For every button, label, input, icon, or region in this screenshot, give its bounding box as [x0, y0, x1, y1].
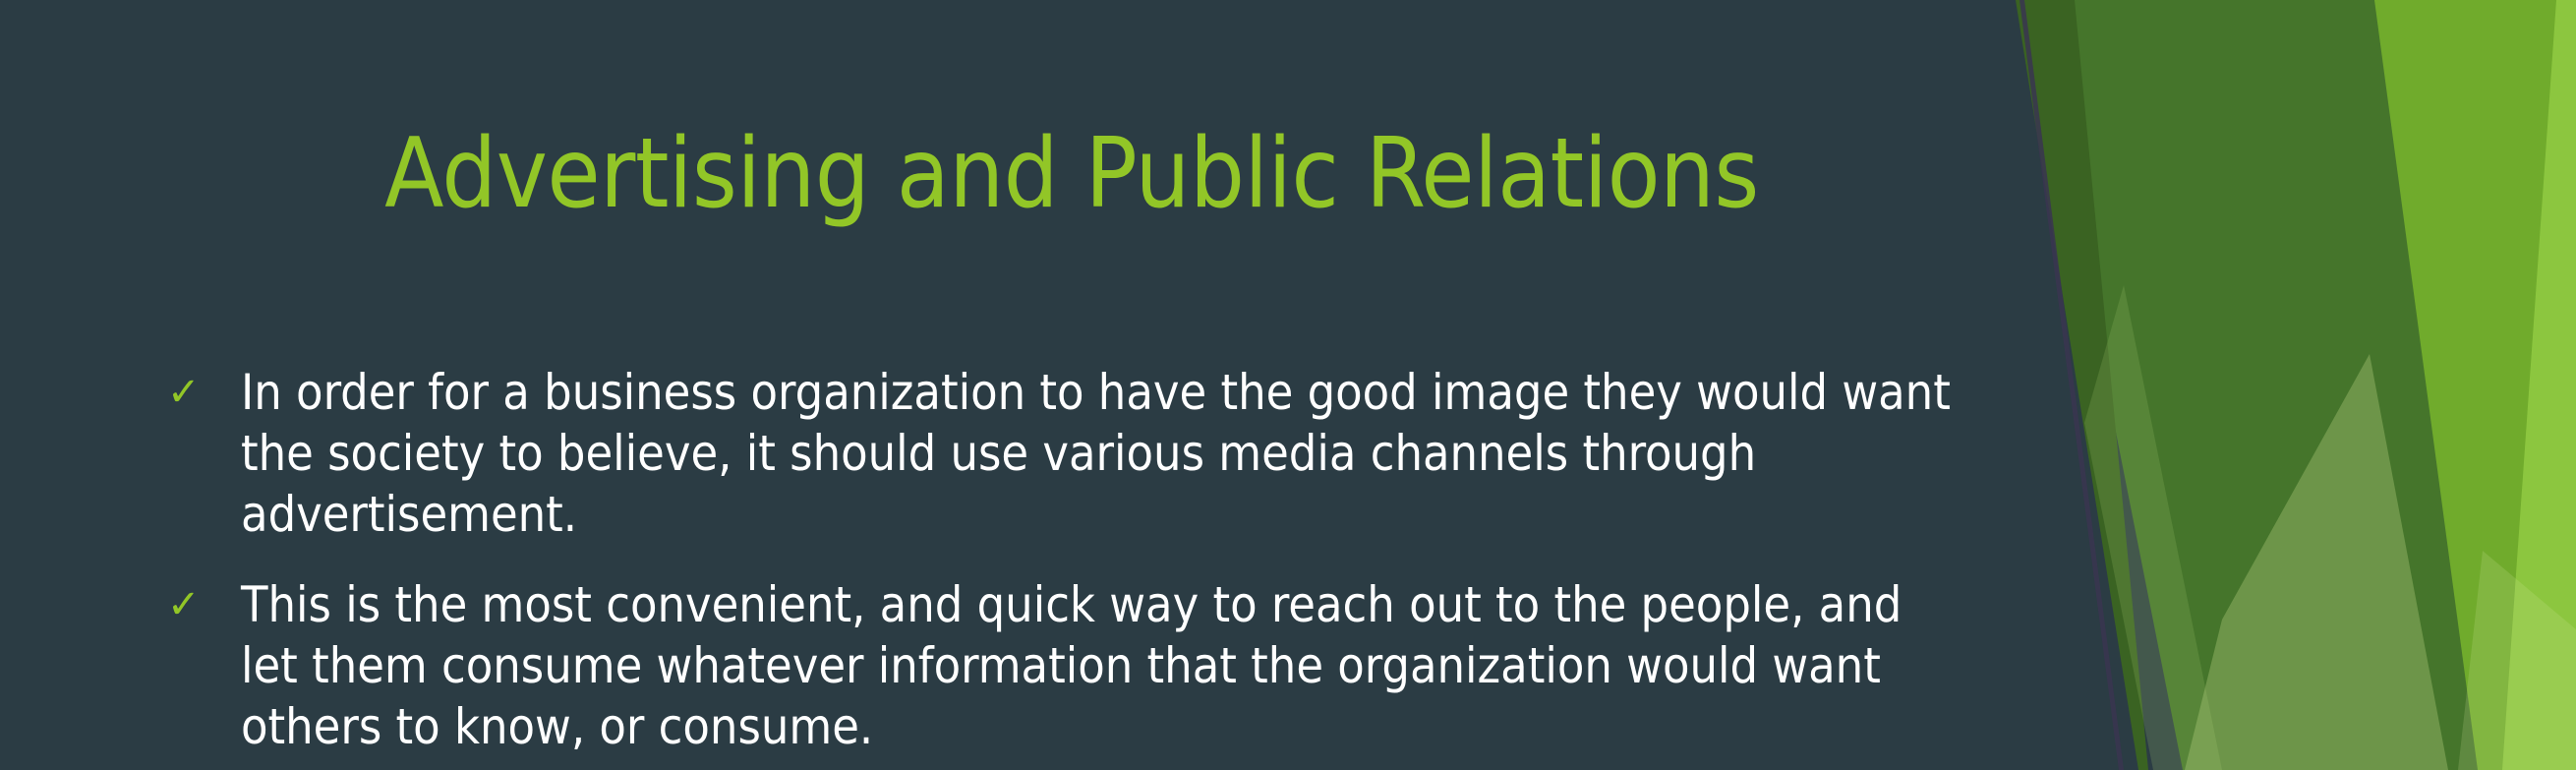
slide-title: Advertising and Public Relations: [0, 126, 2143, 224]
checkmark-icon: ✓: [157, 362, 241, 423]
presentation-slide: Advertising and Public Relations ✓ In or…: [0, 0, 2576, 770]
checkmark-icon: ✓: [157, 574, 241, 635]
shape-hairline-crease: [2020, 0, 2124, 770]
decoration-svg: [1927, 0, 2576, 770]
bullet-item-text: This is the most convenient, and quick w…: [241, 574, 1957, 757]
bullet-item-text: In order for a business organization to …: [241, 362, 1957, 545]
shape-dark-slate-wedge: [1927, 0, 2138, 770]
shape-bright-green: [2193, 0, 2556, 770]
bullet-list-item: ✓ In order for a business organization t…: [157, 362, 1957, 545]
shape-olive-overlay-left: [2084, 285, 2222, 770]
bullet-list-item: ✓ This is the most convenient, and quick…: [157, 574, 1957, 757]
slide-body-content: ✓ In order for a business organization t…: [157, 362, 1957, 770]
shape-light-green-base: [2252, 0, 2576, 770]
facet-decoration-graphic: [1927, 0, 2576, 770]
shape-overlay-right: [2458, 551, 2576, 770]
shape-mid-green: [2030, 0, 2478, 770]
shape-dark-green-sliver: [2008, 0, 2148, 770]
shape-olive-overlay-center: [2185, 354, 2448, 770]
